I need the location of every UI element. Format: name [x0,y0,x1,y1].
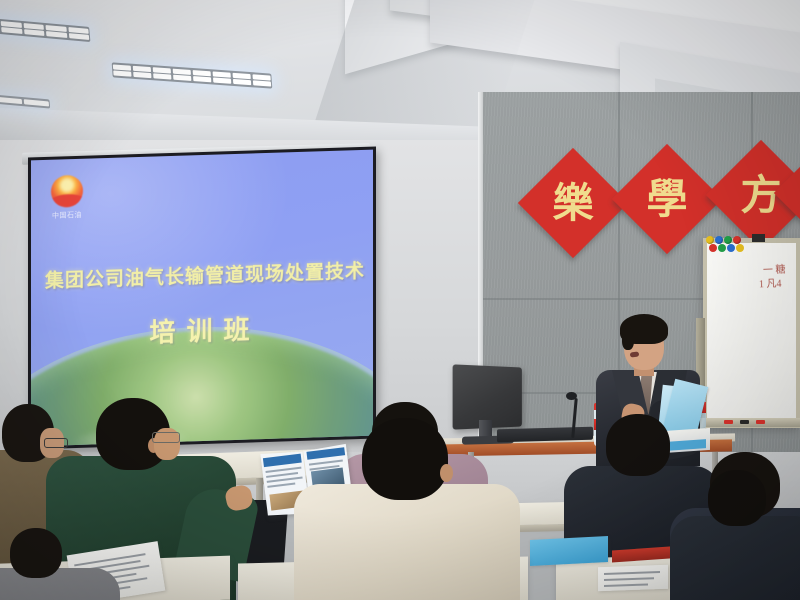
placard-character: 學 [628,160,706,238]
placard-character: 樂 [534,164,612,242]
attendee-ear [440,464,453,482]
whiteboard-magnets [706,236,741,244]
eyeglasses-icon [44,438,68,448]
wall-placard: 樂 [518,148,628,258]
ceiling-light-icon [0,17,90,42]
logo-text: 中国石油 [47,210,87,221]
slide-surface: 中国石油 集团公司油气长输管道现场处置技术 培训班 [31,150,373,447]
attendee-body [294,484,520,600]
whiteboard-surface: 一 糖 1 凡4 [707,243,796,423]
whiteboard-magnets [709,244,744,252]
eyeglasses-icon [152,432,180,443]
whiteboard: 一 糖 1 凡4 [703,238,800,428]
attendee-head [362,418,448,500]
conference-room-photo: 樂 學 方 中国石油 集团公司油气长输管道现场处置技术 培训班 一 糖 1 凡4 [0,0,800,600]
attendee-head [606,414,670,476]
whiteboard-text: 一 糖 [763,265,786,278]
presenter-hair [620,314,668,344]
petrochina-sun-icon [51,175,83,208]
petrochina-logo: 中国石油 [47,175,87,221]
paper-document [598,565,668,591]
ceiling-light-icon [0,92,50,108]
attendee-head [708,470,766,526]
blue-document [530,536,608,566]
projection-screen: 中国石油 集团公司油气长输管道现场处置技术 培训班 [28,147,376,450]
attendee-body [670,516,800,600]
whiteboard-clip [752,234,765,242]
ceiling-light-icon [112,62,273,88]
keyboard [497,427,593,443]
attendee-head [10,528,62,578]
microphone-icon [566,392,577,400]
whiteboard-text: 1 凡4 [759,279,782,292]
whiteboard-marker-tray [700,418,800,427]
